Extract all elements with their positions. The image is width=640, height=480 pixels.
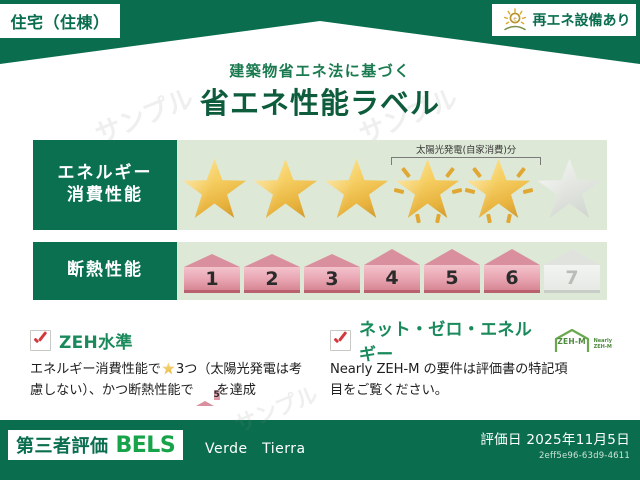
- inline-star-icon: [162, 362, 175, 375]
- star-1-filled: [182, 158, 248, 221]
- zeh-m-sub-line1: Nearly: [594, 338, 612, 344]
- zeh-m-logo-text: ZEH-M: [552, 337, 592, 346]
- energy-performance-label: サンプル サンプル サンプル 住宅（住棟） e 再エネ設備: [0, 0, 640, 480]
- insulation-performance-row: 断熱性能 1 2 3 4 5 6: [33, 242, 607, 300]
- zeh-standard-description: エネルギー消費性能で3つ（太陽光発電は考慮しない）、かつ断熱性能で5を達成: [30, 359, 312, 402]
- insulation-level-6: 6: [484, 249, 540, 293]
- insulation-level-5-value: 5: [424, 265, 480, 293]
- insulation-level-5: 5: [424, 249, 480, 293]
- sun-icon: e: [502, 8, 528, 32]
- insulation-level-4-value: 4: [364, 265, 420, 293]
- insulation-level-4: 4: [364, 249, 420, 293]
- insulation-level-scale: 1 2 3 4 5 6 7: [184, 249, 600, 293]
- solar-contribution-caption: 太陽光発電(自家消費)分: [391, 142, 541, 156]
- renewable-equipment-badge: e 再エネ設備あり: [492, 4, 636, 36]
- evaluation-date-value: 2025年11月5日: [526, 432, 630, 448]
- insulation-levels-area: 1 2 3 4 5 6 7: [177, 242, 607, 300]
- inline-house-badge-value: 5: [214, 390, 220, 400]
- page-title: 省エネ性能ラベル: [0, 80, 640, 122]
- zeh-standard-heading: ZEH水準: [30, 328, 312, 352]
- zeh-m-logo: ZEH-M Nearly ZEH-M: [552, 328, 612, 353]
- zeh-m-house-icon: ZEH-M: [552, 328, 592, 353]
- zeh-desc-part2: 3つ（太陽光発電: [176, 362, 276, 377]
- energy-label-line2: 消費性能: [67, 185, 143, 207]
- energy-label-line1: エネルギー: [58, 163, 153, 185]
- insulation-level-3: 3: [304, 254, 360, 293]
- criterion-net-zero-energy: ネット・ゼロ・エネルギー ZEH-M Nearly ZEH-M Nearly Z…: [330, 328, 612, 402]
- inline-house-badge-icon: 5: [196, 383, 215, 398]
- zeh-standard-title: ZEH水準: [59, 328, 133, 353]
- zeh-desc-part1: エネルギー消費性能で: [30, 362, 161, 377]
- checkmark-icon-nze: [330, 330, 351, 351]
- label-subtitle: 建築物省エネ法に基づく: [0, 60, 640, 81]
- net-zero-energy-description: Nearly ZEH-M の要件は評価書の特記項 目をご覧ください。: [330, 359, 612, 402]
- insulation-level-7-value: 7: [544, 265, 600, 293]
- nze-desc-line2: 目をご覧ください。: [330, 383, 448, 398]
- star-4-filled-solar: [395, 158, 461, 221]
- checkmark-icon-zeh: [30, 330, 51, 351]
- zeh-m-logo-subtext: Nearly ZEH-M: [594, 338, 612, 352]
- insulation-level-6-value: 6: [484, 265, 540, 293]
- bels-jp-label: 第三者評価: [16, 432, 109, 458]
- bels-en-label: BELS: [116, 433, 176, 458]
- evaluation-date-label: 評価日: [480, 432, 521, 448]
- star-2-filled: [253, 158, 319, 221]
- insulation-performance-label-box: 断熱性能: [33, 242, 177, 300]
- criterion-zeh-standard: ZEH水準 エネルギー消費性能で3つ（太陽光発電は考慮しない）、かつ断熱性能で5…: [30, 328, 312, 402]
- star-3-filled: [324, 158, 390, 221]
- star-rating: [182, 158, 603, 221]
- bels-badge: 第三者評価 BELS: [8, 430, 183, 460]
- insulation-level-1: 1: [184, 254, 240, 293]
- insulation-level-1-value: 1: [184, 267, 240, 293]
- zeh-desc-part4: を達成: [217, 383, 256, 398]
- serial-number: 2eff5e96-63d9-4611: [480, 451, 630, 461]
- evaluation-info: 評価日 2025年11月5日 2eff5e96-63d9-4611: [480, 428, 630, 461]
- insulation-level-2: 2: [244, 254, 300, 293]
- net-zero-energy-heading: ネット・ゼロ・エネルギー ZEH-M Nearly ZEH-M: [330, 328, 612, 352]
- insulation-label-line1: 断熱性能: [67, 260, 143, 282]
- evaluation-date-line: 評価日 2025年11月5日: [480, 428, 630, 448]
- zeh-m-sub-line2: ZEH-M: [594, 344, 612, 350]
- nze-desc-line1: Nearly ZEH-M の要件は評価書の特記項: [330, 362, 567, 377]
- renewable-equipment-label: 再エネ設備あり: [533, 10, 631, 30]
- energy-performance-label-box: エネルギー 消費性能: [33, 140, 177, 230]
- property-name: Verde Tierra: [205, 438, 306, 458]
- star-5-filled-solar: [466, 158, 532, 221]
- building-type-chip: 住宅（住棟）: [0, 4, 120, 38]
- energy-stars-area: 太陽光発電(自家消費)分: [177, 140, 607, 230]
- insulation-level-7: 7: [544, 249, 600, 293]
- star-6-empty: [537, 158, 603, 221]
- insulation-level-2-value: 2: [244, 267, 300, 293]
- building-type-label: 住宅（住棟）: [10, 9, 109, 33]
- net-zero-energy-title: ネット・ゼロ・エネルギー: [359, 315, 540, 365]
- energy-performance-row: エネルギー 消費性能 太陽光発電(自家消費)分: [33, 140, 607, 230]
- insulation-level-3-value: 3: [304, 267, 360, 293]
- footer-bar: 第三者評価 BELS Verde Tierra 評価日 2025年11月5日 2…: [0, 420, 640, 480]
